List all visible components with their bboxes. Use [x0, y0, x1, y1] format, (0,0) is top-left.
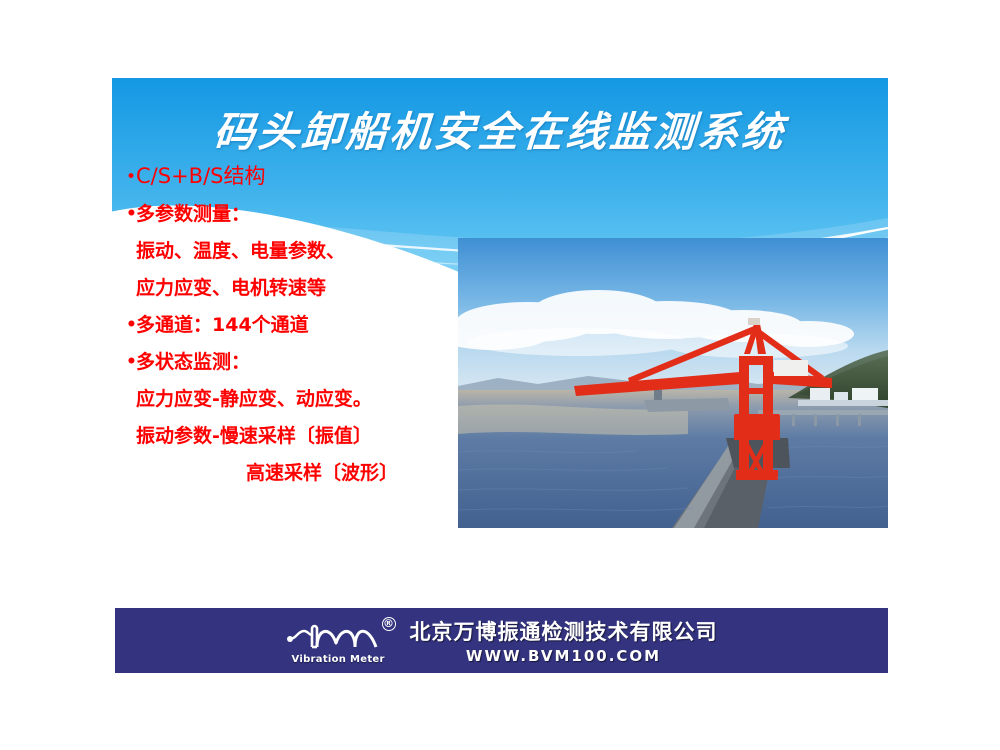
list-item: •多通道：144个通道 — [126, 316, 486, 335]
list-item-label: 多状态监测： — [136, 351, 250, 373]
list-item-label: 高速采样〔波形〕 — [246, 462, 398, 484]
list-item: 应力应变-静应变、动应变。 — [126, 390, 486, 409]
list-item: •C/S+B/S结构 — [126, 166, 486, 187]
company-logo: ® Vibration Meter — [286, 617, 398, 665]
bullet-marker: • — [126, 317, 136, 334]
list-item-label: 振动参数-慢速采样〔振值〕 — [136, 425, 372, 447]
bullet-marker: • — [126, 354, 136, 371]
list-item-label: 多参数测量： — [136, 203, 250, 225]
vibration-meter-wave-icon — [286, 617, 398, 657]
slide-canvas: 码头卸船机安全在线监测系统 •C/S+B/S结构 •多参数测量： 振动、温度、电… — [112, 78, 888, 673]
list-item-label: 多通道：144个通道 — [136, 314, 309, 336]
logo-subtitle: Vibration Meter — [292, 654, 385, 665]
list-item: •多参数测量： — [126, 205, 486, 224]
bullet-marker: • — [126, 206, 136, 223]
list-item-label: 应力应变、电机转速等 — [136, 277, 326, 299]
company-name: 北京万博振通检测技术有限公司 — [410, 616, 718, 646]
list-item: 振动参数-慢速采样〔振值〕 — [126, 427, 486, 446]
bullet-list: •C/S+B/S结构 •多参数测量： 振动、温度、电量参数、 应力应变、电机转速… — [126, 166, 486, 501]
list-item-label: 振动、温度、电量参数、 — [136, 240, 345, 262]
list-item: 应力应变、电机转速等 — [126, 279, 486, 298]
list-item-label: 应力应变-静应变、动应变。 — [136, 388, 372, 410]
list-item: 振动、温度、电量参数、 — [126, 242, 486, 261]
registered-trademark-icon: ® — [382, 617, 396, 631]
bullet-marker: • — [126, 169, 136, 186]
company-website: WWW.BVM100.COM — [410, 647, 718, 665]
company-info: 北京万博振通检测技术有限公司 WWW.BVM100.COM — [410, 616, 718, 665]
list-item: 高速采样〔波形〕 — [126, 464, 486, 483]
page-title: 码头卸船机安全在线监测系统 — [112, 98, 888, 158]
harbor-crane-photo — [458, 238, 888, 528]
photo-illustration — [458, 238, 888, 528]
list-item-label: C/S+B/S结构 — [136, 164, 265, 188]
footer-bar: ® Vibration Meter 北京万博振通检测技术有限公司 WWW.BVM… — [115, 608, 888, 673]
list-item: •多状态监测： — [126, 353, 486, 372]
